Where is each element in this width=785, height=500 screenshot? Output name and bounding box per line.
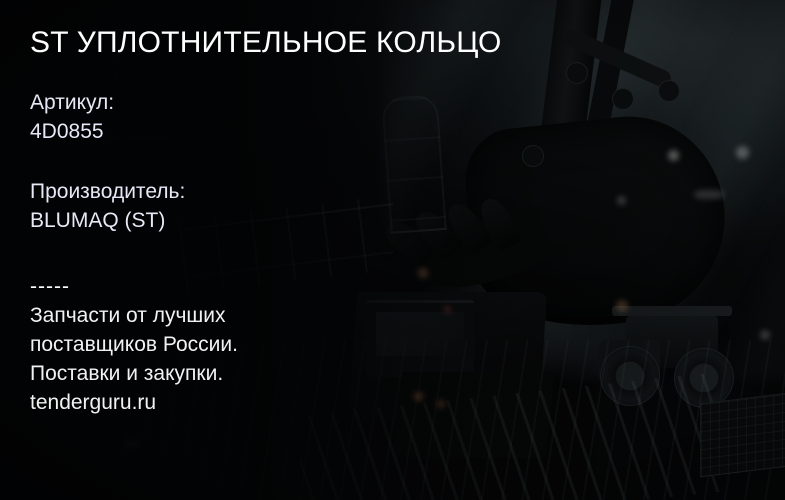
product-banner: ST УПЛОТНИТЕЛЬНОЕ КОЛЬЦО Артикул: 4D0855… [0, 0, 785, 500]
manufacturer-field: Производитель: BLUMAQ (ST) [30, 177, 185, 235]
promo-block: ----- Запчасти от лучших поставщиков Рос… [30, 272, 238, 417]
banner-content: ST УПЛОТНИТЕЛЬНОЕ КОЛЬЦО Артикул: 4D0855… [0, 0, 785, 500]
promo-line-3: Поставки и закупки. [30, 359, 238, 388]
manufacturer-label: Производитель: [30, 177, 185, 206]
article-field: Артикул: 4D0855 [30, 88, 114, 146]
product-title: ST УПЛОТНИТЕЛЬНОЕ КОЛЬЦО [30, 27, 502, 59]
site-url[interactable]: tenderguru.ru [30, 388, 238, 417]
promo-separator: ----- [30, 272, 238, 301]
article-value: 4D0855 [30, 117, 114, 146]
promo-line-1: Запчасти от лучших [30, 301, 238, 330]
promo-line-2: поставщиков России. [30, 330, 238, 359]
article-label: Артикул: [30, 88, 114, 117]
manufacturer-value: BLUMAQ (ST) [30, 206, 185, 235]
